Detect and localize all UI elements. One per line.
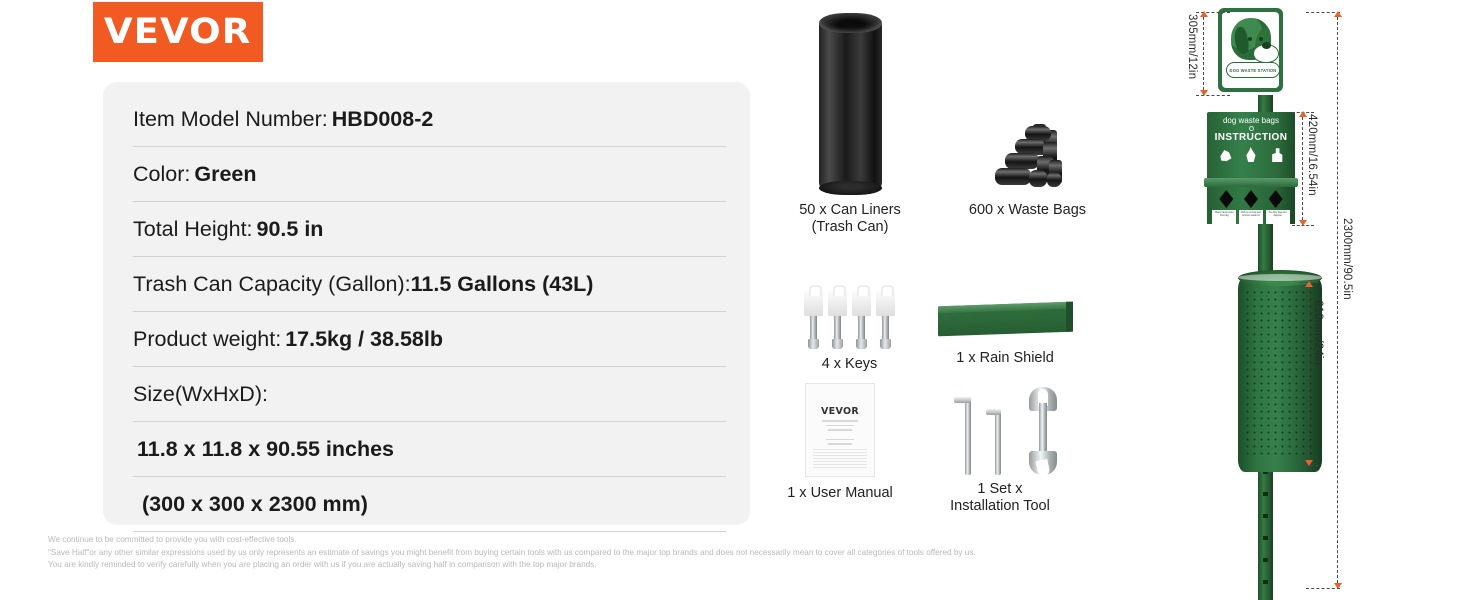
dim-label-dispenser-height: 420mm/16.54in — [1306, 114, 1318, 196]
spec-row-color: Color: Green — [133, 147, 726, 202]
perforated-trash-can — [1238, 277, 1322, 472]
dog-illustration-icon — [1231, 18, 1271, 60]
dispenser-diamond-slots — [1207, 187, 1295, 208]
accessory-keys: 4 x Keys — [782, 280, 917, 373]
dispenser-dot-icon — [1249, 126, 1254, 131]
spec-row-size-mm: (300 x 300 x 2300 mm) — [133, 477, 726, 532]
specifications-card: Item Model Number: HBD008-2 Color: Green… — [103, 82, 750, 525]
accessory-caption-line1: 1 x User Manual — [770, 485, 910, 502]
accessory-caption: 50 x Can Liners (Trash Can) — [760, 202, 940, 236]
trash-bag-roll-icon — [760, 18, 940, 190]
disclaimer-line-3: You are kindly reminded to verify carefu… — [48, 559, 1108, 572]
dispenser-lower-panel: Place hand under this bag Pull up on bag… — [1207, 187, 1295, 224]
manual-brand: VEVOR — [806, 406, 874, 417]
sign-text: DOG WASTE STATION — [1230, 68, 1277, 73]
dim-line-can-height — [1308, 282, 1309, 465]
spec-row-size-inches: 11.8 x 11.8 x 90.55 inches — [133, 422, 726, 477]
disclaimer-line-2: "Save Half"or any other similar expressi… — [48, 547, 1108, 560]
user-manual-icon: VEVOR — [805, 383, 875, 477]
pictogram-filled-bag-icon — [1244, 147, 1257, 162]
allen-key-small-icon — [986, 409, 1001, 475]
dispenser-pictograms — [1213, 147, 1289, 162]
spec-row-weight: Product weight: 17.5kg / 38.58lb — [133, 312, 726, 367]
dispenser-instruction-title: INSTRUCTION — [1207, 132, 1295, 143]
diamond-slot-icon — [1244, 190, 1258, 208]
bag-dispenser-box: dog waste bags INSTRUCTION Place hand un… — [1207, 112, 1295, 224]
wrench-icon — [1028, 387, 1058, 475]
spec-value-weight: 17.5kg / 38.58lb — [285, 327, 443, 352]
installation-tool-icon — [940, 383, 1060, 475]
accessory-caption: 1 x User Manual — [770, 485, 910, 502]
accessory-caption-line1: 1 x Rain Shield — [925, 350, 1085, 367]
accessory-rain-shield: 1 x Rain Shield — [925, 280, 1085, 367]
diamond-slot-icon — [1269, 190, 1283, 208]
spec-label-color: Color: — [133, 162, 194, 187]
accessory-can-liners: 50 x Can Liners (Trash Can) — [760, 18, 940, 236]
pole-holes — [1263, 470, 1268, 600]
accessory-caption-line1: 600 x Waste Bags — [945, 202, 1110, 219]
dim-label-sign-height: 305mm/12in — [1186, 14, 1198, 79]
product-spec-sheet: VEVOR Item Model Number: HBD008-2 Color:… — [0, 0, 1464, 600]
accessory-caption-line1: 1 Set x — [920, 481, 1080, 498]
waste-bag-rolls-stack-icon — [985, 126, 1071, 190]
vevor-logo: VEVOR — [93, 2, 263, 62]
accessory-caption: 1 x Rain Shield — [925, 350, 1085, 367]
sign-bone-label: DOG WASTE STATION — [1226, 62, 1279, 78]
diamond-slot-icon — [1219, 190, 1233, 208]
rain-shield-icon — [925, 304, 1085, 334]
disclaimer: We continue to be committed to provide y… — [48, 534, 1108, 572]
spec-row-size-header: Size(WxHxD): — [133, 367, 726, 422]
accessory-installation-tool: 1 Set x Installation Tool — [920, 383, 1080, 515]
spec-row-total-height: Total Height: 90.5 in — [133, 202, 726, 257]
dim-label-can-height: 610mm/24in — [1312, 300, 1324, 365]
accessory-user-manual: VEVOR 1 x User Manual — [770, 383, 910, 502]
vevor-logo-text: VEVOR — [104, 12, 252, 52]
spec-value-model: HBD008-2 — [332, 107, 434, 132]
dim-line-sign-height — [1203, 12, 1204, 95]
spec-value-size-inches: 11.8 x 11.8 x 90.55 inches — [137, 437, 394, 462]
dispenser-step-captions: Place hand under this bag Pull up on bag… — [1207, 208, 1295, 224]
spec-value-color: Green — [194, 162, 256, 187]
spec-label-total-height: Total Height: — [133, 217, 257, 242]
spec-row-capacity: Trash Can Capacity (Gallon): 11.5 Gallon… — [133, 257, 726, 312]
dispenser-title: dog waste bags — [1207, 116, 1295, 125]
dog-waste-station-sign: DOG WASTE STATION — [1218, 8, 1283, 92]
accessory-caption-line1: 4 x Keys — [782, 356, 917, 373]
dim-label-total-height: 2300mm/90.5in — [1341, 218, 1353, 300]
spec-row-model: Item Model Number: HBD008-2 — [133, 92, 726, 147]
accessory-caption-line2: Installation Tool — [920, 498, 1080, 515]
spec-value-total-height: 90.5 in — [257, 217, 324, 242]
dispenser-ledge — [1204, 178, 1298, 187]
accessory-caption: 4 x Keys — [782, 356, 917, 373]
accessory-waste-bags: 600 x Waste Bags — [945, 18, 1110, 219]
accessory-caption: 600 x Waste Bags — [945, 202, 1110, 219]
can-perforation-pattern — [1244, 289, 1312, 456]
dim-line-dispenser-height — [1302, 112, 1303, 225]
spec-label-model: Item Model Number: — [133, 107, 332, 132]
accessory-caption-line2: (Trash Can) — [760, 219, 940, 236]
spec-value-size-mm: (300 x 300 x 2300 mm) — [142, 492, 368, 517]
spec-label-weight: Product weight: — [133, 327, 285, 352]
accessory-caption-line1: 50 x Can Liners — [760, 202, 940, 219]
disclaimer-line-1: We continue to be committed to provide y… — [48, 534, 1108, 547]
pictogram-hand-bag-icon — [1219, 147, 1232, 162]
spec-value-capacity: 11.5 Gallons (43L) — [411, 272, 594, 297]
spec-label-capacity: Trash Can Capacity (Gallon): — [133, 272, 411, 297]
spec-label-size: Size(WxHxD): — [133, 382, 268, 407]
pictogram-dispose-bin-icon — [1270, 147, 1283, 162]
dispenser-step-1: Place hand under this bag — [1212, 210, 1236, 224]
dispenser-step-2: Pull up on bag and remove waste bit — [1239, 210, 1263, 224]
accessory-caption: 1 Set x Installation Tool — [920, 481, 1080, 515]
keys-icon — [804, 290, 896, 348]
dim-line-total-height — [1337, 12, 1338, 588]
allen-key-large-icon — [954, 397, 971, 475]
dispenser-step-3: Tie dirty bag and dispose — [1266, 210, 1290, 224]
can-lid — [1238, 274, 1322, 281]
